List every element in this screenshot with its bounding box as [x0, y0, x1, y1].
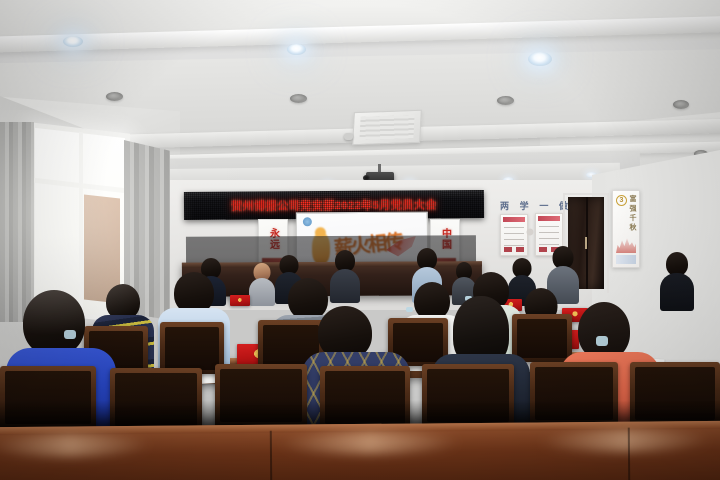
panel-line: [504, 233, 524, 234]
desk-highlight: [540, 429, 710, 452]
ceiling-downlight-on: [63, 36, 83, 47]
wall-heading-char-1: 两: [500, 199, 509, 212]
ceiling-downlight-on: [528, 52, 552, 66]
panel-red-block: [504, 247, 512, 252]
ceiling-downlight-off: [673, 100, 689, 109]
banner-skyline-graphic: [616, 235, 636, 253]
panel-line: [539, 238, 559, 239]
smoke-detector-icon: [344, 133, 353, 140]
desk-seam: [270, 431, 272, 480]
panel-line: [504, 227, 524, 228]
ceiling-downlight-off: [106, 92, 123, 101]
panel-header-bar: [503, 217, 525, 222]
panel-divider-dot: [527, 229, 534, 236]
right-standing-banner: 3 富 强 千 秋: [612, 190, 640, 268]
wall-heading-char-2: 学: [520, 199, 529, 212]
wall-heading: 两 学 一 做: [500, 200, 568, 211]
ceiling-downlight-off: [497, 96, 514, 105]
desk-highlight: [280, 431, 460, 455]
torso: [660, 273, 694, 311]
ceiling-air-vent: [352, 110, 422, 145]
desk-highlight: [0, 434, 150, 457]
panel-line: [504, 239, 524, 240]
ceiling-downlight-on: [287, 44, 306, 55]
panel-line: [504, 245, 524, 246]
name-placard: [230, 295, 250, 306]
conference-room-photo: 贺州博报公司党支部2022年5月党员大会 薪火相传 永远 中国 两 学 一 做: [0, 0, 720, 480]
window-mullion-vertical: [79, 132, 83, 314]
ceiling-downlight-off: [290, 94, 307, 103]
panel-line: [539, 232, 559, 233]
banner-number-badge: 3: [616, 195, 627, 206]
attendee: [660, 252, 694, 308]
info-panel-left: [500, 214, 528, 256]
foreground-desk: [0, 421, 720, 480]
chair-back: [165, 327, 219, 370]
panel-header-bar: [538, 216, 560, 221]
wall-heading-char-3: 一: [539, 199, 548, 212]
face-mask: [596, 336, 608, 346]
panel-line: [539, 244, 559, 245]
banner-vertical-text: 富 强 千 秋: [628, 195, 638, 230]
banner-footer: [616, 255, 636, 264]
head: [23, 290, 85, 356]
cabinet-handle[interactable]: [585, 237, 587, 249]
face-mask: [64, 330, 76, 339]
panel-red-block: [516, 247, 524, 252]
panel-red-block: [539, 247, 547, 252]
panel-line: [539, 226, 559, 227]
